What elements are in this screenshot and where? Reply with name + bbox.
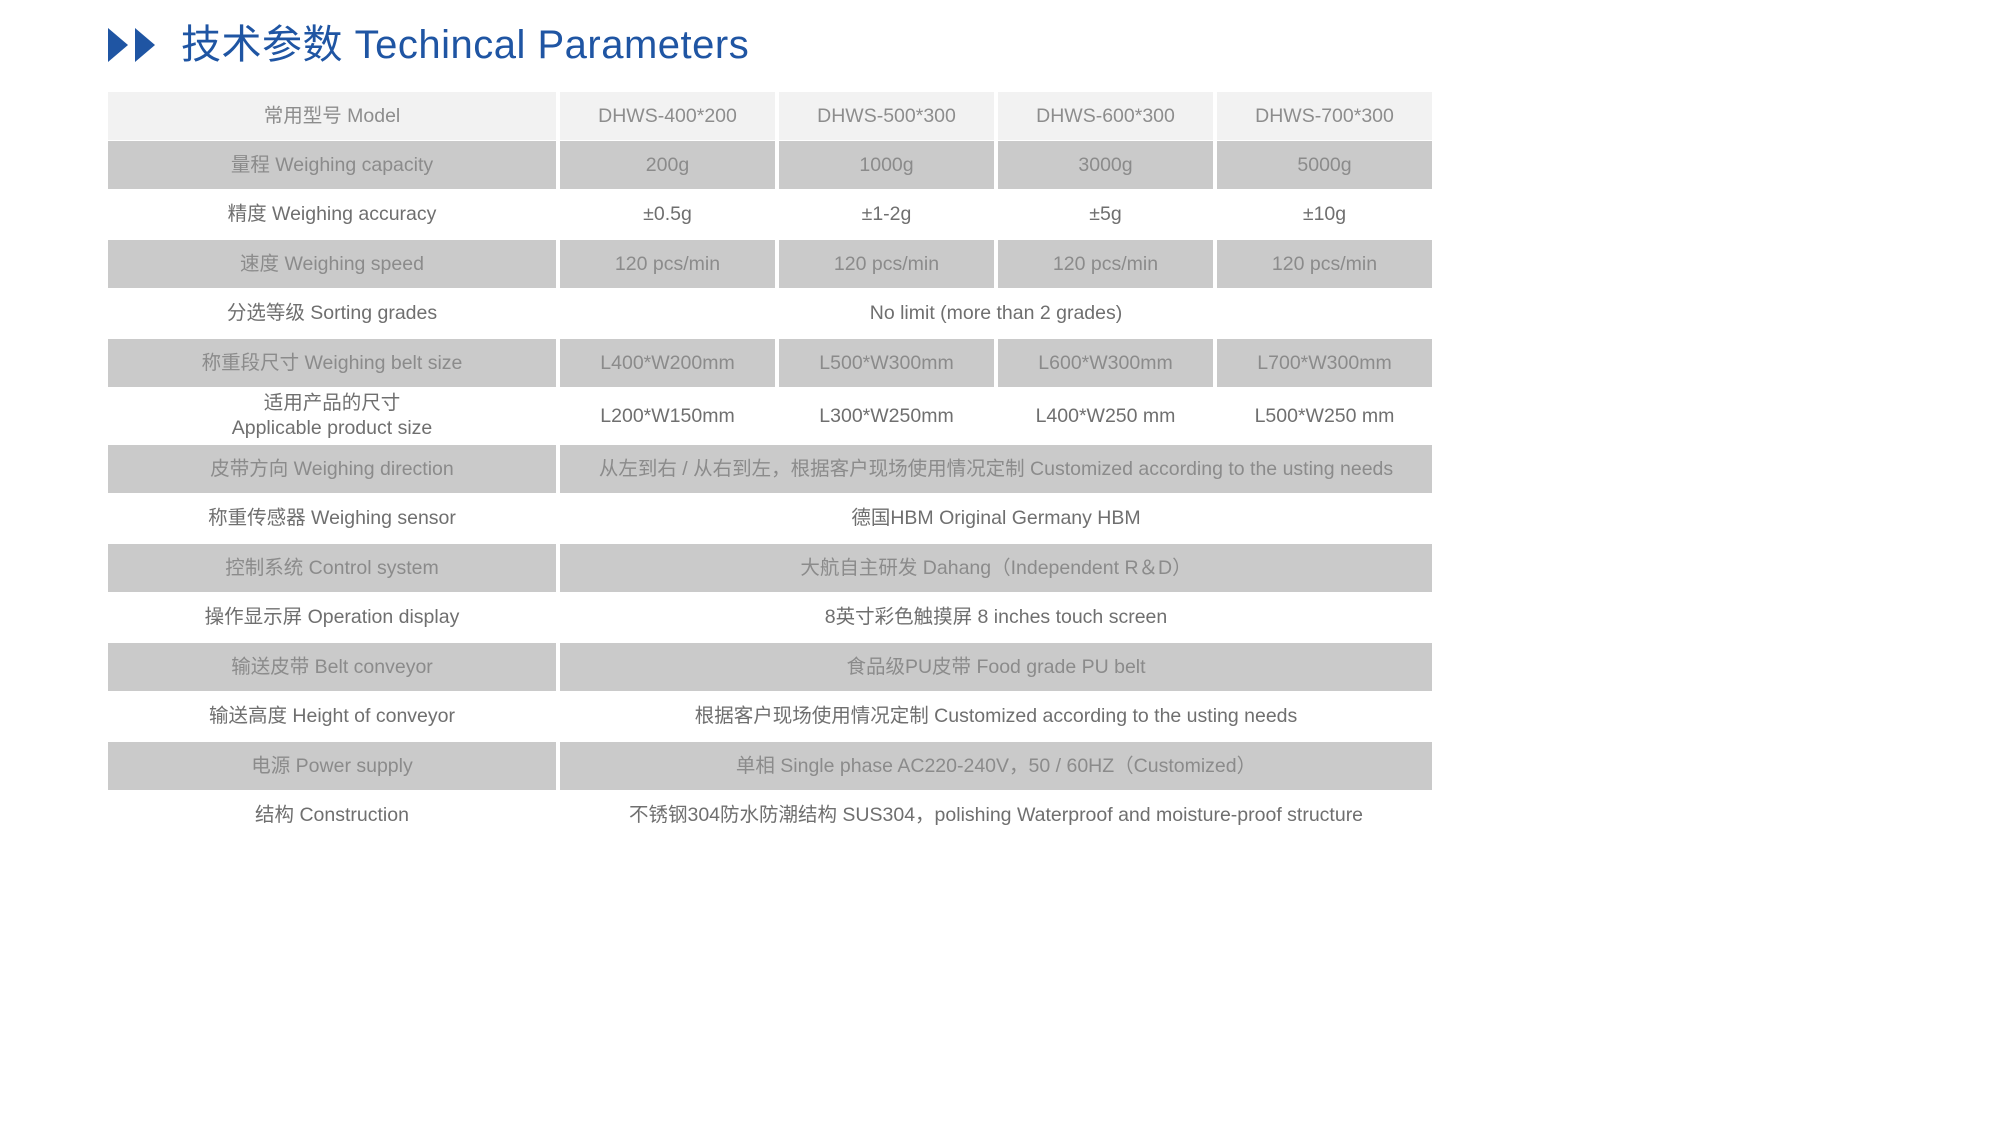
table-header-model: DHWS-600*300 — [998, 92, 1213, 140]
table-row: 电源 Power supply单相 Single phase AC220-240… — [108, 742, 1432, 790]
title-bullet — [108, 28, 155, 62]
row-value: ±1-2g — [779, 190, 994, 239]
row-merged-value: 根据客户现场使用情况定制 Customized according to the… — [560, 692, 1432, 741]
table-row: 皮带方向 Weighing direction从左到右 / 从右到左，根据客户现… — [108, 445, 1432, 493]
row-label: 称重传感器 Weighing sensor — [108, 494, 556, 543]
row-value: 5000g — [1217, 141, 1432, 189]
table-row: 输送皮带 Belt conveyor食品级PU皮带 Food grade PU … — [108, 643, 1432, 691]
row-label: 结构 Construction — [108, 791, 556, 840]
row-label-line1: 适用产品的尺寸 — [264, 391, 401, 416]
row-value: L200*W150mm — [560, 388, 775, 444]
table-header-model: DHWS-400*200 — [560, 92, 775, 140]
technical-parameters-page: 技术参数 Techincal Parameters 常用型号 ModelDHWS… — [0, 0, 2000, 1121]
table-row: 结构 Construction不锈钢304防水防潮结构 SUS304，polis… — [108, 791, 1432, 840]
row-value: L400*W200mm — [560, 339, 775, 387]
row-label: 称重段尺寸 Weighing belt size — [108, 339, 556, 387]
page-title-text: 技术参数 Techincal Parameters — [181, 25, 749, 65]
row-value: 120 pcs/min — [779, 240, 994, 288]
row-label: 量程 Weighing capacity — [108, 141, 556, 189]
row-label: 输送皮带 Belt conveyor — [108, 643, 556, 691]
row-merged-value: 8英寸彩色触摸屏 8 inches touch screen — [560, 593, 1432, 642]
row-label: 电源 Power supply — [108, 742, 556, 790]
row-value: L500*W300mm — [779, 339, 994, 387]
triangle-right-icon — [108, 28, 128, 62]
row-value: 120 pcs/min — [998, 240, 1213, 288]
row-value: L400*W250 mm — [998, 388, 1213, 444]
row-label: 控制系统 Control system — [108, 544, 556, 592]
table-row: 控制系统 Control system大航自主研发 Dahang（Indepen… — [108, 544, 1432, 592]
table-row: 精度 Weighing accuracy±0.5g±1-2g±5g±10g — [108, 190, 1432, 239]
table-row: 分选等级 Sorting gradesNo limit (more than 2… — [108, 289, 1432, 338]
row-merged-value: 大航自主研发 Dahang（Independent R＆D） — [560, 544, 1432, 592]
row-value: 1000g — [779, 141, 994, 189]
row-label: 分选等级 Sorting grades — [108, 289, 556, 338]
table-header-model: DHWS-500*300 — [779, 92, 994, 140]
triangle-right-icon — [135, 28, 155, 62]
row-label-line2: Applicable product size — [232, 416, 433, 441]
row-label: 皮带方向 Weighing direction — [108, 445, 556, 493]
row-value: L700*W300mm — [1217, 339, 1432, 387]
row-value: ±10g — [1217, 190, 1432, 239]
table-row: 适用产品的尺寸Applicable product sizeL200*W150m… — [108, 388, 1432, 444]
table-header-row: 常用型号 ModelDHWS-400*200DHWS-500*300DHWS-6… — [108, 92, 1432, 140]
row-label: 精度 Weighing accuracy — [108, 190, 556, 239]
row-value: L600*W300mm — [998, 339, 1213, 387]
row-label: 速度 Weighing speed — [108, 240, 556, 288]
row-merged-value: 单相 Single phase AC220-240V，50 / 60HZ（Cus… — [560, 742, 1432, 790]
parameters-table: 常用型号 ModelDHWS-400*200DHWS-500*300DHWS-6… — [108, 92, 1432, 840]
row-value: L300*W250mm — [779, 388, 994, 444]
row-label: 适用产品的尺寸Applicable product size — [108, 388, 556, 444]
row-value: ±5g — [998, 190, 1213, 239]
row-value: ±0.5g — [560, 190, 775, 239]
row-value: 120 pcs/min — [560, 240, 775, 288]
table-header-model: DHWS-700*300 — [1217, 92, 1432, 140]
table-row: 称重段尺寸 Weighing belt sizeL400*W200mmL500*… — [108, 339, 1432, 387]
table-row: 速度 Weighing speed120 pcs/min120 pcs/min1… — [108, 240, 1432, 288]
row-value: 200g — [560, 141, 775, 189]
row-label: 操作显示屏 Operation display — [108, 593, 556, 642]
table-row: 量程 Weighing capacity200g1000g3000g5000g — [108, 141, 1432, 189]
row-label: 输送高度 Height of conveyor — [108, 692, 556, 741]
row-merged-value: 不锈钢304防水防潮结构 SUS304，polishing Waterproof… — [560, 791, 1432, 840]
row-merged-value: 食品级PU皮带 Food grade PU belt — [560, 643, 1432, 691]
table-header-label: 常用型号 Model — [108, 92, 556, 140]
row-value: 3000g — [998, 141, 1213, 189]
table-row: 称重传感器 Weighing sensor德国HBM Original Germ… — [108, 494, 1432, 543]
row-merged-value: No limit (more than 2 grades) — [560, 289, 1432, 338]
row-merged-value: 德国HBM Original Germany HBM — [560, 494, 1432, 543]
page-title: 技术参数 Techincal Parameters — [108, 14, 749, 76]
table-row: 输送高度 Height of conveyor根据客户现场使用情况定制 Cust… — [108, 692, 1432, 741]
row-merged-value: 从左到右 / 从右到左，根据客户现场使用情况定制 Customized acco… — [560, 445, 1432, 493]
table-row: 操作显示屏 Operation display8英寸彩色触摸屏 8 inches… — [108, 593, 1432, 642]
row-value: L500*W250 mm — [1217, 388, 1432, 444]
row-value: 120 pcs/min — [1217, 240, 1432, 288]
